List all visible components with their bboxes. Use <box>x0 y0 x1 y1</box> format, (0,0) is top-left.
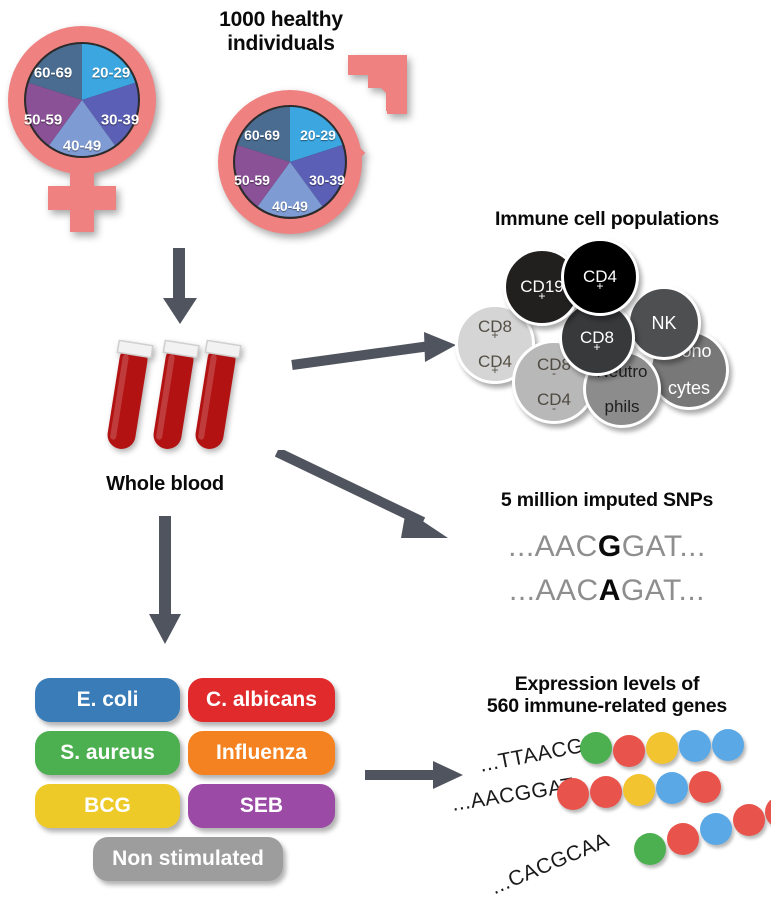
male-pie-label-60-69: 60-69 <box>244 127 280 143</box>
snp-sequence-row-1: ...AACGGAT... <box>452 530 762 564</box>
cohort-title-line1: 1000 healthy <box>178 8 384 32</box>
snp-suffix: GAT... <box>622 530 706 563</box>
strand-1-bead-4 <box>679 730 711 762</box>
stimulation-influenza[interactable]: Influenza <box>188 731 335 775</box>
gene-expression-strands: ...TTAACGG ...AACGGAT ...CACGCAA <box>452 720 771 910</box>
strand-2-bead-5 <box>689 771 721 803</box>
snp-variant-allele: A <box>599 574 621 607</box>
male-pie-label-30-39: 30-39 <box>309 172 345 188</box>
strand-3-bead-1 <box>634 833 666 865</box>
snp-variant-allele: G <box>598 530 622 563</box>
arrow-cohort-to-blood <box>160 248 200 326</box>
stimulation-panel: E. coli C. albicans S. aureus Influenza … <box>35 678 335 898</box>
immune-cell-cd4pos: CD4+ <box>561 238 639 316</box>
snp-title: 5 million imputed SNPs <box>452 489 762 511</box>
stimulation-label: C. albicans <box>206 688 317 712</box>
male-pie-label-40-49: 40-49 <box>272 198 308 214</box>
blood-tubes <box>105 330 245 470</box>
arrow-blood-to-immune <box>290 330 458 380</box>
stimulation-label: BCG <box>84 794 131 818</box>
arrow-stimulations-to-genes <box>365 758 465 794</box>
cell-label-line2: phils <box>596 398 647 415</box>
whole-blood-label: Whole blood <box>70 473 260 496</box>
strand-3-bead-3 <box>700 813 732 845</box>
stimulation-label: SEB <box>240 794 283 818</box>
female-pie-label-40-49: 40-49 <box>63 138 101 155</box>
stimulation-seb[interactable]: SEB <box>188 784 335 828</box>
female-pie-label-20-29: 20-29 <box>92 65 130 82</box>
strand-1-bead-3 <box>646 732 678 764</box>
arrow-blood-to-stimulations <box>145 516 185 646</box>
strand-1-bead-5 <box>712 729 744 761</box>
immune-cell-nk: NK <box>627 286 701 360</box>
strand-2-bead-3 <box>623 774 655 806</box>
stimulation-bcg[interactable]: BCG <box>35 784 180 828</box>
male-pie-label-50-59: 50-59 <box>234 172 270 188</box>
genes-title-line2: 560 immune-related genes <box>452 695 762 717</box>
female-pie-label-50-59: 50-59 <box>24 112 62 129</box>
stimulation-non-stimulated[interactable]: Non stimulated <box>93 837 283 881</box>
strand-sequence-3: ...CACGCAA <box>487 829 613 900</box>
female-symbol: 20-29 30-39 40-49 50-59 60-69 <box>8 14 193 234</box>
stimulation-label: E. coli <box>77 688 139 712</box>
immune-cell-cluster: CD8+ CD4+ CD8- CD4- Mono cytes Neutro ph… <box>455 238 765 428</box>
genes-title: Expression levels of 560 immune-related … <box>452 673 762 718</box>
strand-2-bead-4 <box>656 772 688 804</box>
stimulation-label: Influenza <box>216 741 307 765</box>
immune-title: Immune cell populations <box>452 208 762 230</box>
stimulation-ecoli[interactable]: E. coli <box>35 678 180 722</box>
male-symbol: 20-29 30-39 40-49 50-59 60-69 <box>205 52 410 247</box>
strand-3-bead-2 <box>667 823 699 855</box>
strand-3-bead-5 <box>765 796 771 828</box>
cell-label-line2: cytes <box>666 379 711 397</box>
female-pie-label-60-69: 60-69 <box>34 65 72 82</box>
arrow-blood-to-snps <box>275 450 455 550</box>
stimulation-label: Non stimulated <box>112 847 264 871</box>
snp-prefix: ...AAC <box>509 574 599 607</box>
stimulation-label: S. aureus <box>60 741 155 765</box>
figure-canvas: 1000 healthy individuals 20-29 30-39 40-… <box>0 0 771 922</box>
snp-sequence-row-2: ...AACAGAT... <box>452 574 762 608</box>
snp-suffix: GAT... <box>621 574 705 607</box>
male-pie-label-20-29: 20-29 <box>300 127 336 143</box>
strand-3-bead-4 <box>733 804 765 836</box>
genes-title-line1: Expression levels of <box>452 673 762 695</box>
snp-prefix: ...AAC <box>508 530 598 563</box>
cell-label: NK <box>651 314 676 332</box>
strand-2-bead-1 <box>557 778 589 810</box>
snp-sequences: ...AACGGAT... ...AACAGAT... <box>452 530 762 620</box>
strand-1-bead-1 <box>580 732 612 764</box>
female-pie-label-30-39: 30-39 <box>101 112 139 129</box>
strand-2-bead-2 <box>590 776 622 808</box>
stimulation-calbicans[interactable]: C. albicans <box>188 678 335 722</box>
cohort-title: 1000 healthy individuals <box>178 8 384 56</box>
stimulation-saureus[interactable]: S. aureus <box>35 731 180 775</box>
strand-1-bead-2 <box>613 735 645 767</box>
